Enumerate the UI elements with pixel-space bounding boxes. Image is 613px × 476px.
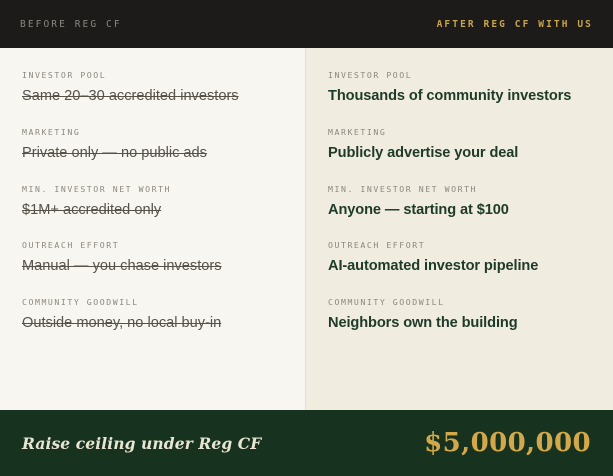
row-label: OUTREACH EFFORT <box>328 240 591 250</box>
row-value-after: Neighbors own the building <box>328 315 591 332</box>
row-value-before: $1M+ accredited only <box>22 202 283 219</box>
row-label: MARKETING <box>22 127 283 137</box>
row-value-before: Same 20–30 accredited investors <box>22 88 283 105</box>
reg-cf-comparison-card: BEFORE REG CF AFTER REG CF WITH US INVES… <box>0 0 613 476</box>
row-label: INVESTOR POOL <box>328 70 591 80</box>
header-before-label: BEFORE REG CF <box>20 19 122 30</box>
row-label: COMMUNITY GOODWILL <box>328 297 591 307</box>
comparison-row-min-net-worth: MIN. INVESTOR NET WORTH Anyone — startin… <box>328 180 591 219</box>
row-value-before: Manual — you chase investors <box>22 258 283 275</box>
row-label: INVESTOR POOL <box>22 70 283 80</box>
row-value-before: Private only — no public ads <box>22 145 283 162</box>
footer-amount: $5,000,000 <box>424 430 591 456</box>
row-value-after: Thousands of community investors <box>328 88 591 105</box>
comparison-row-outreach-effort: OUTREACH EFFORT AI-automated investor pi… <box>328 236 591 275</box>
row-label: OUTREACH EFFORT <box>22 240 283 250</box>
after-column: INVESTOR POOL Thousands of community inv… <box>306 48 613 410</box>
row-value-after: Anyone — starting at $100 <box>328 202 591 219</box>
comparison-row-community-goodwill: COMMUNITY GOODWILL Outside money, no loc… <box>22 293 283 332</box>
comparison-row-marketing: MARKETING Publicly advertise your deal <box>328 123 591 162</box>
header-after-label: AFTER REG CF WITH US <box>437 19 593 30</box>
row-label: MARKETING <box>328 127 591 137</box>
row-value-after: Publicly advertise your deal <box>328 145 591 162</box>
comparison-columns: INVESTOR POOL Same 20–30 accredited inve… <box>0 48 613 410</box>
row-label: MIN. INVESTOR NET WORTH <box>328 184 591 194</box>
comparison-row-min-net-worth: MIN. INVESTOR NET WORTH $1M+ accredited … <box>22 180 283 219</box>
before-column: INVESTOR POOL Same 20–30 accredited inve… <box>0 48 306 410</box>
row-label: COMMUNITY GOODWILL <box>22 297 283 307</box>
raise-ceiling-footer: Raise ceiling under Reg CF $5,000,000 <box>0 410 613 476</box>
comparison-row-marketing: MARKETING Private only — no public ads <box>22 123 283 162</box>
footer-caption: Raise ceiling under Reg CF <box>22 434 261 453</box>
row-value-before: Outside money, no local buy-in <box>22 315 283 332</box>
row-label: MIN. INVESTOR NET WORTH <box>22 184 283 194</box>
comparison-row-community-goodwill: COMMUNITY GOODWILL Neighbors own the bui… <box>328 293 591 332</box>
comparison-row-outreach-effort: OUTREACH EFFORT Manual — you chase inves… <box>22 236 283 275</box>
comparison-row-investor-pool: INVESTOR POOL Same 20–30 accredited inve… <box>22 66 283 105</box>
comparison-row-investor-pool: INVESTOR POOL Thousands of community inv… <box>328 66 591 105</box>
comparison-header-bar: BEFORE REG CF AFTER REG CF WITH US <box>0 0 613 48</box>
row-value-after: AI-automated investor pipeline <box>328 258 591 275</box>
